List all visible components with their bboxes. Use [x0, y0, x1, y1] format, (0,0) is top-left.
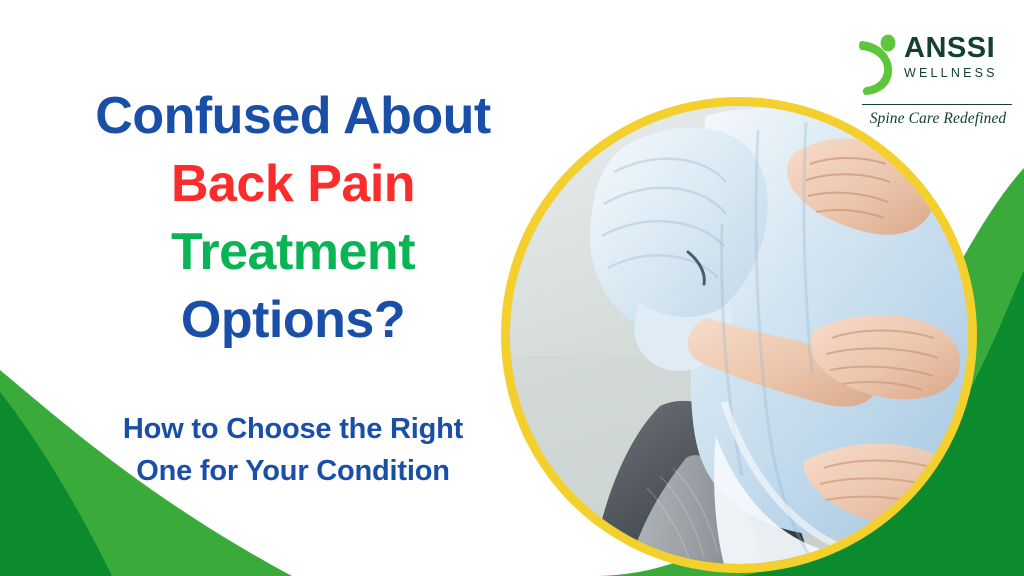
headline-line-2: Back Pain: [28, 150, 558, 218]
headline-line-1: Confused About: [28, 82, 558, 150]
poster-canvas: Confused About Back Pain Treatment Optio…: [0, 0, 1024, 576]
logo-subtitle: WELLNESS: [904, 65, 1012, 82]
subheading-line-2: One for Your Condition: [28, 450, 558, 492]
headline-line-3: Treatment: [28, 218, 558, 286]
logo-divider: [862, 104, 1012, 105]
logo-wordmark: ANSSI WELLNESS: [904, 32, 1012, 82]
headline-line-4: Options?: [28, 286, 558, 354]
logo-name: ANSSI: [904, 32, 1012, 65]
anssi-wellness-logo[interactable]: ANSSI WELLNESS Spine Care Redefined: [852, 32, 1012, 134]
subheading: How to Choose the Right One for Your Con…: [28, 408, 558, 492]
hero-photo-clip: [510, 106, 968, 564]
logo-tagline: Spine Care Redefined: [862, 108, 1014, 129]
headline: Confused About Back Pain Treatment Optio…: [28, 82, 558, 354]
hero-photo-circle: [501, 97, 977, 573]
back-pain-illustration: [510, 106, 968, 564]
subheading-line-1: How to Choose the Right: [28, 408, 558, 450]
anssi-person-crescent-icon: [852, 34, 900, 98]
